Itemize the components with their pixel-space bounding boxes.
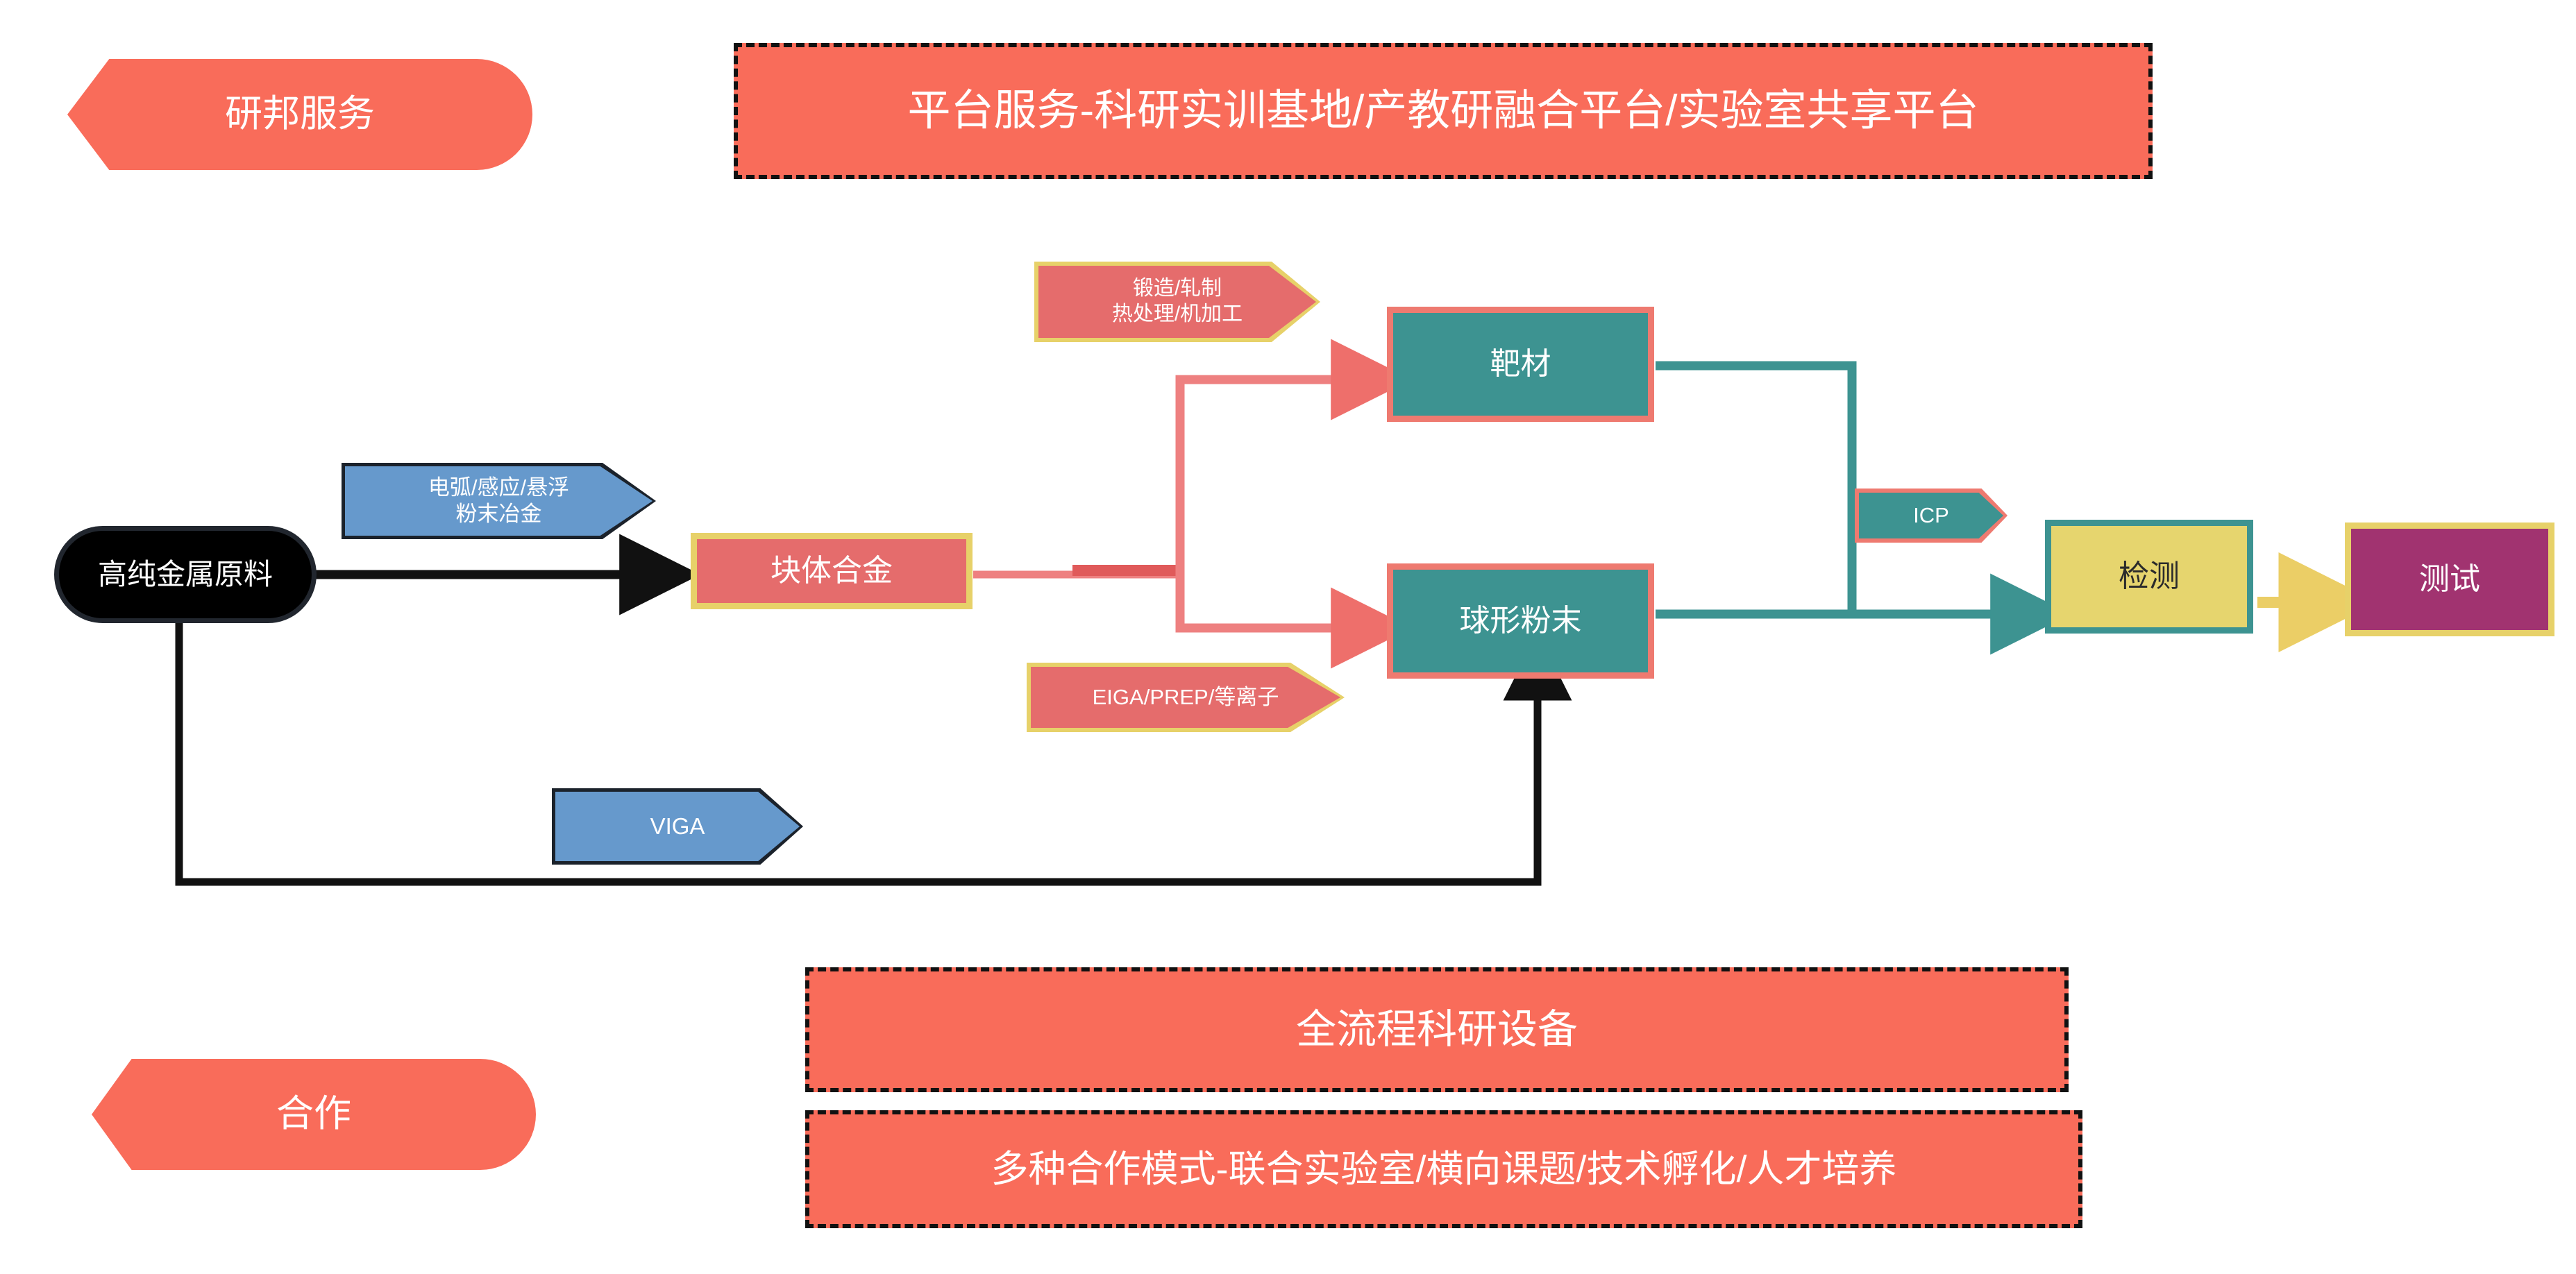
- banner-yanbang-service[interactable]: 研邦服务: [67, 59, 532, 170]
- node-raw-material-label: 高纯金属原料: [98, 557, 273, 592]
- process-arrow-icp-label: ICP: [1913, 502, 1949, 529]
- banner-yanbang-service-label: 研邦服务: [225, 94, 375, 135]
- process-arrow-melting[interactable]: 电弧/感应/悬浮 粉末冶金: [342, 463, 656, 539]
- process-arrow-viga-body: VIGA: [555, 792, 800, 861]
- process-arrow-viga-label: VIGA: [650, 813, 705, 840]
- band-platform-service-label: 平台服务-科研实训基地/产教研融合平台/实验室共享平台: [907, 86, 1978, 135]
- node-raw-material[interactable]: 高纯金属原料: [54, 526, 317, 623]
- flowchart-canvas: 研邦服务 平台服务-科研实训基地/产教研融合平台/实验室共享平台 电弧/感应/悬…: [0, 0, 2576, 1274]
- process-arrow-forming-line1: 锻造/轧制: [1133, 276, 1222, 302]
- band-full-process-equipment[interactable]: 全流程科研设备: [805, 967, 2069, 1092]
- band-cooperation-modes[interactable]: 多种合作模式-联合实验室/横向课题/技术孵化/人才培养: [805, 1110, 2082, 1228]
- node-target-label: 靶材: [1490, 346, 1551, 383]
- banner-cooperation-label: 合作: [276, 1094, 351, 1135]
- node-bulk-alloy-label: 块体合金: [771, 553, 893, 590]
- node-inspection[interactable]: 检测: [2045, 520, 2253, 634]
- banner-cooperation[interactable]: 合作: [92, 1059, 536, 1170]
- band-cooperation-modes-label: 多种合作模式-联合实验室/横向课题/技术孵化/人才培养: [991, 1148, 1897, 1191]
- node-testing[interactable]: 测试: [2345, 523, 2554, 636]
- process-arrow-icp[interactable]: ICP: [1855, 489, 2007, 543]
- node-spherical-powder[interactable]: 球形粉末: [1387, 563, 1654, 679]
- process-arrow-forming[interactable]: 锻造/轧制 热处理/机加工: [1034, 262, 1320, 342]
- process-arrow-icp-body: ICP: [1859, 493, 2003, 538]
- process-arrow-melting-body: 电弧/感应/悬浮 粉末冶金: [345, 466, 653, 536]
- node-bulk-alloy[interactable]: 块体合金: [691, 533, 973, 609]
- process-arrow-melting-line2: 粉末冶金: [456, 501, 542, 527]
- connector-bulk-split: [973, 380, 1381, 628]
- process-arrow-atomization-label: EIGA/PREP/等离子: [1093, 684, 1279, 711]
- process-arrow-viga[interactable]: VIGA: [552, 788, 803, 865]
- process-arrow-atomization[interactable]: EIGA/PREP/等离子: [1027, 663, 1345, 732]
- node-inspection-label: 检测: [2119, 559, 2180, 595]
- band-platform-service[interactable]: 平台服务-科研实训基地/产教研融合平台/实验室共享平台: [734, 43, 2153, 179]
- node-testing-label: 测试: [2419, 561, 2480, 598]
- connector-raw-to-powder-viga: [179, 622, 1538, 882]
- process-arrow-forming-body: 锻造/轧制 热处理/机加工: [1038, 266, 1316, 338]
- process-arrow-atomization-body: EIGA/PREP/等离子: [1031, 667, 1340, 728]
- node-target[interactable]: 靶材: [1387, 307, 1654, 422]
- node-spherical-powder-label: 球形粉末: [1460, 603, 1582, 640]
- process-arrow-forming-line2: 热处理/机加工: [1112, 302, 1243, 328]
- band-full-process-equipment-label: 全流程科研设备: [1296, 1007, 1578, 1053]
- process-arrow-melting-line1: 电弧/感应/悬浮: [428, 475, 569, 501]
